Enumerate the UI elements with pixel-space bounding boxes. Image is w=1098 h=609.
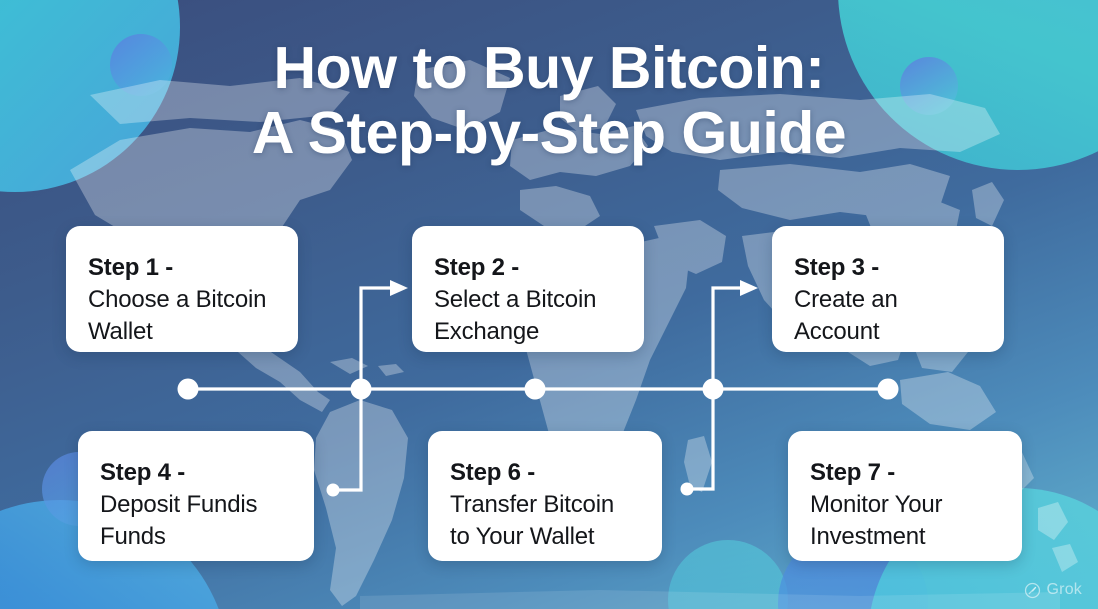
step-card-2[interactable]: Step 2 - Select a Bitcoin Exchange <box>412 226 644 352</box>
grok-watermark: Grok <box>1024 581 1082 599</box>
timeline-node-1 <box>178 379 199 400</box>
step-card-3-label: Step 3 - <box>794 252 982 284</box>
connector-dot-step4 <box>327 484 340 497</box>
step-card-3-description: Create an Account <box>794 284 982 348</box>
step-card-4-description: Deposit Fundis Funds <box>100 489 292 553</box>
page-title: How to Buy Bitcoin: A Step-by-Step Guide <box>0 36 1098 166</box>
timeline-node-4 <box>703 379 724 400</box>
step-card-6-description: Transfer Bitcoin to Your Wallet <box>450 489 640 553</box>
step-card-7-label: Step 7 - <box>810 457 1000 489</box>
arrowhead-step2-icon <box>390 280 408 296</box>
connector-down-step6 <box>693 389 713 489</box>
step-card-7-description: Monitor Your Investment <box>810 489 1000 553</box>
step-card-1-label: Step 1 - <box>88 252 276 284</box>
connector-dot-step6 <box>681 483 694 496</box>
timeline-node-2 <box>351 379 372 400</box>
infographic-canvas: How to Buy Bitcoin: A Step-by-Step Guide… <box>0 0 1098 609</box>
connector-up-step2 <box>361 288 392 389</box>
connector-down-step4 <box>339 389 361 490</box>
decorative-circle-bottom-right-small <box>668 540 788 609</box>
step-card-1[interactable]: Step 1 - Choose a Bitcoin Wallet <box>66 226 298 352</box>
step-card-1-description: Choose a Bitcoin Wallet <box>88 284 276 348</box>
step-card-7[interactable]: Step 7 - Monitor Your Investment <box>788 431 1022 561</box>
arrowhead-step3-icon <box>740 280 758 296</box>
step-card-6[interactable]: Step 6 - Transfer Bitcoin to Your Wallet <box>428 431 662 561</box>
grok-logo-icon <box>1024 582 1041 599</box>
step-card-2-label: Step 2 - <box>434 252 622 284</box>
timeline-node-3 <box>525 379 546 400</box>
title-line-2: A Step-by-Step Guide <box>0 101 1098 166</box>
connector-up-step3 <box>713 288 742 389</box>
title-line-1: How to Buy Bitcoin: <box>0 36 1098 101</box>
step-card-2-description: Select a Bitcoin Exchange <box>434 284 622 348</box>
step-card-6-label: Step 6 - <box>450 457 640 489</box>
step-card-4[interactable]: Step 4 - Deposit Fundis Funds <box>78 431 314 561</box>
timeline-node-5 <box>878 379 899 400</box>
grok-watermark-label: Grok <box>1047 581 1082 599</box>
step-card-4-label: Step 4 - <box>100 457 292 489</box>
step-card-3[interactable]: Step 3 - Create an Account <box>772 226 1004 352</box>
